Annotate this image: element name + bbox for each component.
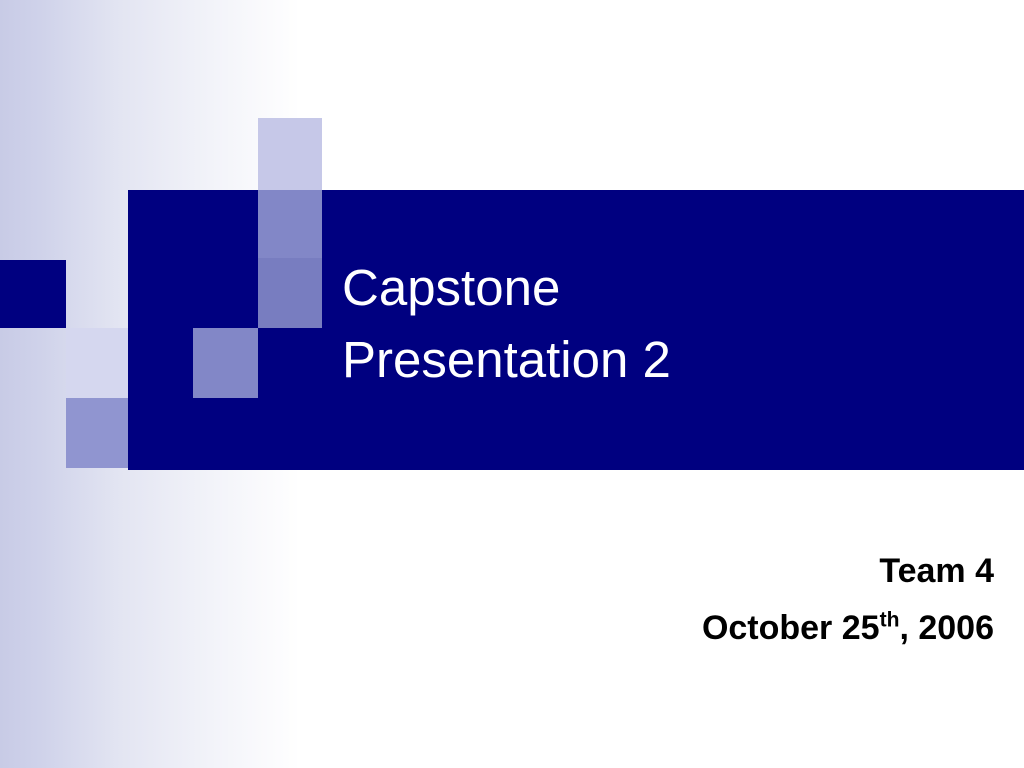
slide-title: Capstone Presentation 2 <box>342 252 1002 397</box>
mosaic-square-overlay <box>193 328 258 398</box>
subtitle-date-suffix: , 2006 <box>899 609 994 647</box>
presentation-slide: Capstone Presentation 2 Team 4 October 2… <box>0 0 1024 768</box>
mosaic-square-overlay <box>258 258 322 328</box>
subtitle-date-ordinal: th <box>880 609 900 632</box>
mosaic-square <box>66 398 128 468</box>
subtitle-date-prefix: October 25 <box>702 609 880 647</box>
subtitle-team: Team 4 <box>0 548 994 595</box>
mosaic-square <box>66 328 128 398</box>
mosaic-square-overlay <box>258 190 322 258</box>
accent-block-left <box>0 260 66 328</box>
mosaic-square <box>258 118 322 190</box>
slide-title-line-1: Capstone <box>342 252 1002 324</box>
subtitle-date: October 25th, 2006 <box>0 605 994 652</box>
slide-title-line-2: Presentation 2 <box>342 324 1002 396</box>
slide-subtitle: Team 4 October 25th, 2006 <box>0 548 994 652</box>
